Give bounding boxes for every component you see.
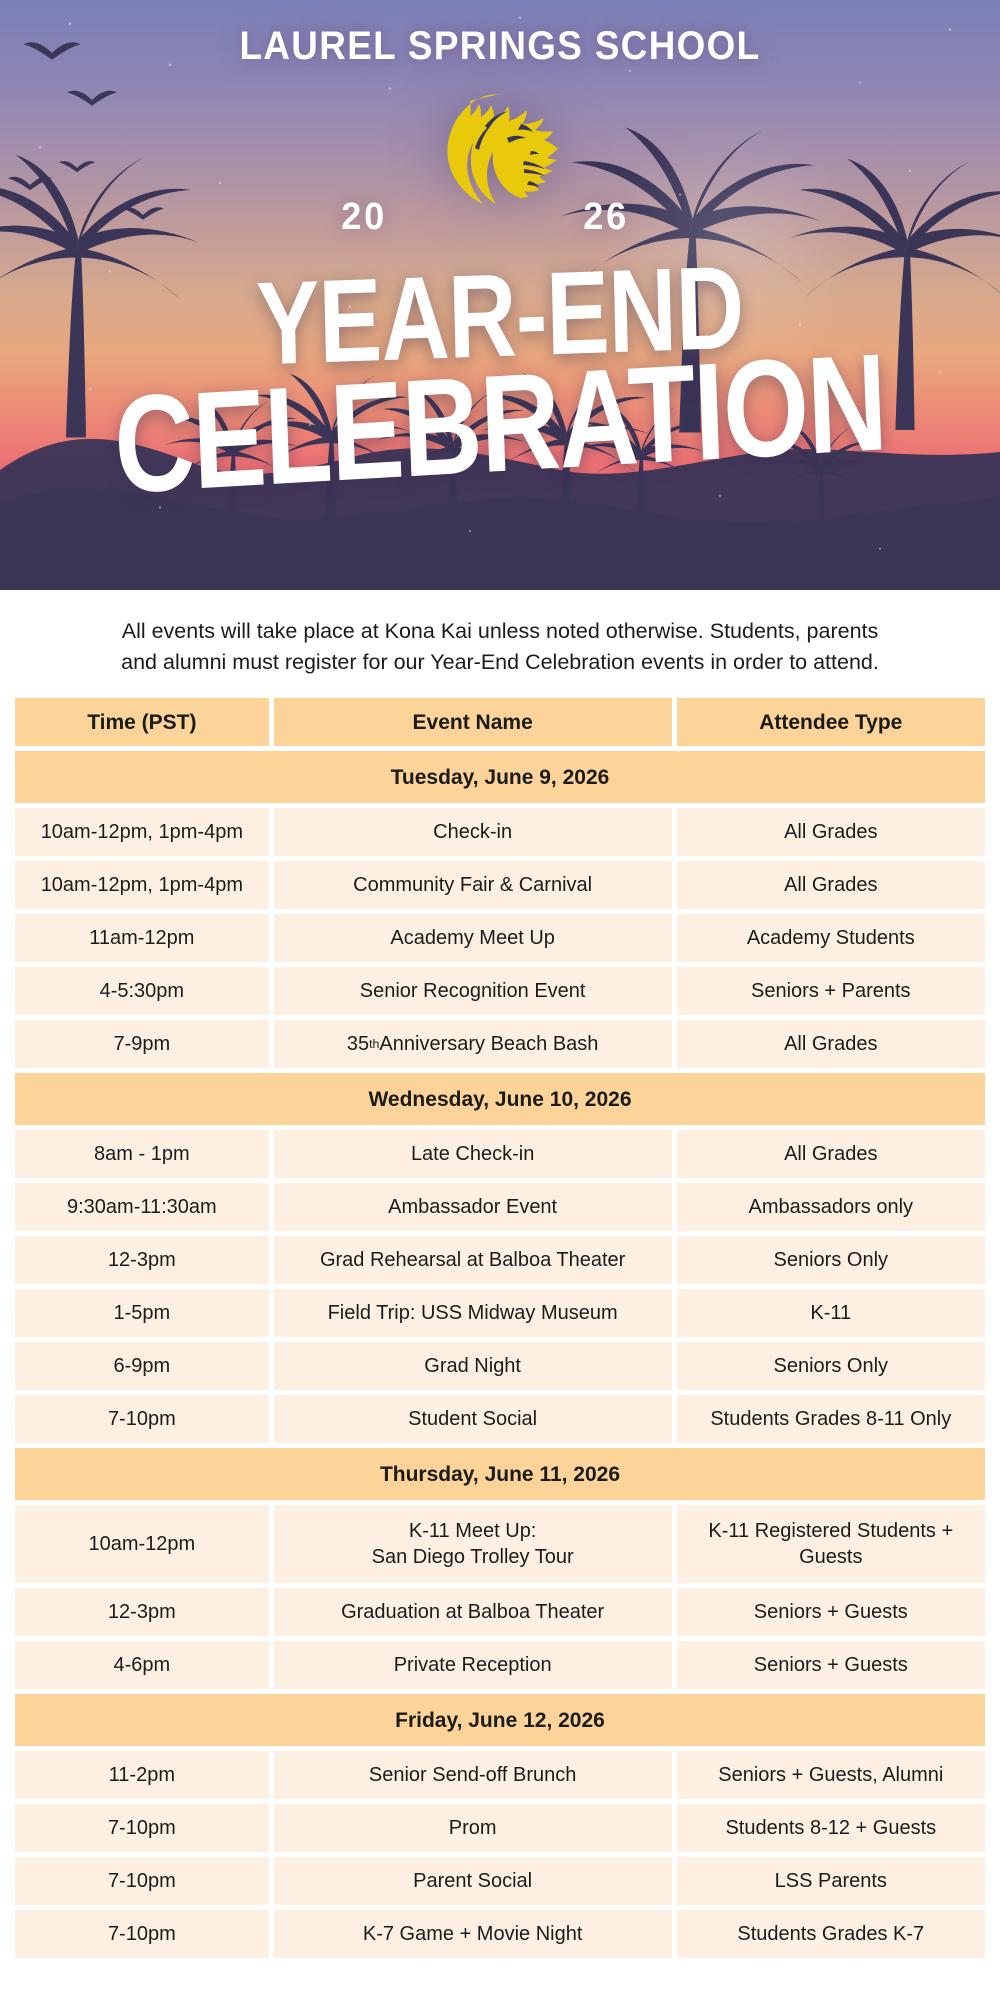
attendee-type: Seniors Only <box>677 1236 985 1284</box>
year-prefix: 20 <box>341 196 387 239</box>
event-time: 7-10pm <box>15 1804 269 1852</box>
table-row: 7-10pmParent SocialLSS Parents <box>15 1857 985 1905</box>
attendee-type: LSS Parents <box>677 1857 985 1905</box>
event-name: K-11 Meet Up:San Diego Trolley Tour <box>274 1505 672 1583</box>
event-name: Parent Social <box>274 1857 672 1905</box>
event-name: K-7 Game + Movie Night <box>274 1910 672 1958</box>
table-row: 6-9pmGrad NightSeniors Only <box>15 1342 985 1390</box>
attendee-type: Seniors + Guests <box>677 1588 985 1636</box>
event-time: 12-3pm <box>15 1588 269 1636</box>
attendee-type: Ambassadors only <box>677 1183 985 1231</box>
table-row: 4-6pmPrivate ReceptionSeniors + Guests <box>15 1641 985 1689</box>
event-time: 8am - 1pm <box>15 1130 269 1178</box>
table-row: 7-10pmStudent SocialStudents Grades 8-11… <box>15 1395 985 1443</box>
table-header-row: Time (PST) Event Name Attendee Type <box>15 698 985 746</box>
event-name: Check-in <box>274 808 672 856</box>
attendee-type: K-11 <box>677 1289 985 1337</box>
attendee-type: Seniors + Guests, Alumni <box>677 1751 985 1799</box>
table-row: 8am - 1pmLate Check-inAll Grades <box>15 1130 985 1178</box>
day-label: Thursday, June 11, 2026 <box>15 1448 985 1500</box>
event-time: 10am-12pm, 1pm-4pm <box>15 861 269 909</box>
table-row: 10am-12pm, 1pm-4pmCheck-inAll Grades <box>15 808 985 856</box>
column-header-event-name: Event Name <box>274 698 672 746</box>
event-time: 6-9pm <box>15 1342 269 1390</box>
attendee-type: Seniors Only <box>677 1342 985 1390</box>
day-header-row: Thursday, June 11, 2026 <box>15 1448 985 1500</box>
event-time: 4-5:30pm <box>15 967 269 1015</box>
table-row: 7-10pmPromStudents 8-12 + Guests <box>15 1804 985 1852</box>
table-row: 11am-12pmAcademy Meet UpAcademy Students <box>15 914 985 962</box>
attendee-type: Seniors + Parents <box>677 967 985 1015</box>
event-name: Academy Meet Up <box>274 914 672 962</box>
attendee-type: Seniors + Guests <box>677 1641 985 1689</box>
event-time: 7-10pm <box>15 1857 269 1905</box>
event-name: Private Reception <box>274 1641 672 1689</box>
event-time: 10am-12pm, 1pm-4pm <box>15 808 269 856</box>
event-name: Community Fair & Carnival <box>274 861 672 909</box>
table-row: 7-9pm35th Anniversary Beach BashAll Grad… <box>15 1020 985 1068</box>
table-row: 10am-12pmK-11 Meet Up:San Diego Trolley … <box>15 1505 985 1583</box>
event-time: 1-5pm <box>15 1289 269 1337</box>
event-name: Prom <box>274 1804 672 1852</box>
year-suffix: 26 <box>583 196 629 239</box>
event-time: 9:30am-11:30am <box>15 1183 269 1231</box>
attendee-type: K-11 Registered Students +Guests <box>677 1505 985 1583</box>
event-name: Grad Rehearsal at Balboa Theater <box>274 1236 672 1284</box>
school-name: LAUREL SPRINGS SCHOOL <box>40 24 960 69</box>
table-row: 12-3pmGraduation at Balboa TheaterSenior… <box>15 1588 985 1636</box>
day-header-row: Wednesday, June 10, 2026 <box>15 1073 985 1125</box>
event-title-line2: CELEBRATION <box>98 338 902 510</box>
table-row: 1-5pmField Trip: USS Midway MuseumK-11 <box>15 1289 985 1337</box>
event-name: Senior Recognition Event <box>274 967 672 1015</box>
day-label: Friday, June 12, 2026 <box>15 1694 985 1746</box>
event-time: 12-3pm <box>15 1236 269 1284</box>
attendee-type: All Grades <box>677 861 985 909</box>
attendee-type: All Grades <box>677 1130 985 1178</box>
event-time: 7-10pm <box>15 1910 269 1958</box>
event-time: 11-2pm <box>15 1751 269 1799</box>
event-name: Late Check-in <box>274 1130 672 1178</box>
event-time: 7-10pm <box>15 1395 269 1443</box>
attendee-type: Students Grades 8-11 Only <box>677 1395 985 1443</box>
event-time: 11am-12pm <box>15 914 269 962</box>
event-title: YEAR-END CELEBRATION <box>0 262 1000 488</box>
event-name: Ambassador Event <box>274 1183 672 1231</box>
attendee-type: Academy Students <box>677 914 985 962</box>
hero-banner: LAUREL SPRINGS SCHOOL 20 26 YEAR-END CEL… <box>0 0 1000 590</box>
day-header-row: Tuesday, June 9, 2026 <box>15 751 985 803</box>
event-name: 35th Anniversary Beach Bash <box>274 1020 672 1068</box>
column-header-time: Time (PST) <box>15 698 269 746</box>
event-name: Student Social <box>274 1395 672 1443</box>
attendee-type: All Grades <box>677 1020 985 1068</box>
table-row: 4-5:30pmSenior Recognition EventSeniors … <box>15 967 985 1015</box>
table-row: 7-10pmK-7 Game + Movie NightStudents Gra… <box>15 1910 985 1958</box>
day-header-row: Friday, June 12, 2026 <box>15 1694 985 1746</box>
table-row: 11-2pmSenior Send-off BrunchSeniors + Gu… <box>15 1751 985 1799</box>
event-name: Senior Send-off Brunch <box>274 1751 672 1799</box>
column-header-attendee-type: Attendee Type <box>677 698 985 746</box>
table-row: 12-3pmGrad Rehearsal at Balboa TheaterSe… <box>15 1236 985 1284</box>
table-row: 9:30am-11:30amAmbassador EventAmbassador… <box>15 1183 985 1231</box>
intro-text: All events will take place at Kona Kai u… <box>0 590 1000 698</box>
day-label: Wednesday, June 10, 2026 <box>15 1073 985 1125</box>
schedule-table: Time (PST) Event Name Attendee Type Tues… <box>0 698 1000 1958</box>
event-time: 10am-12pm <box>15 1505 269 1583</box>
day-label: Tuesday, June 9, 2026 <box>15 751 985 803</box>
event-time: 7-9pm <box>15 1020 269 1068</box>
event-name: Graduation at Balboa Theater <box>274 1588 672 1636</box>
event-time: 4-6pm <box>15 1641 269 1689</box>
attendee-type: Students Grades K-7 <box>677 1910 985 1958</box>
event-name: Grad Night <box>274 1342 672 1390</box>
event-name: Field Trip: USS Midway Museum <box>274 1289 672 1337</box>
attendee-type: Students 8-12 + Guests <box>677 1804 985 1852</box>
table-row: 10am-12pm, 1pm-4pmCommunity Fair & Carni… <box>15 861 985 909</box>
lion-head-icon <box>425 88 575 218</box>
attendee-type: All Grades <box>677 808 985 856</box>
